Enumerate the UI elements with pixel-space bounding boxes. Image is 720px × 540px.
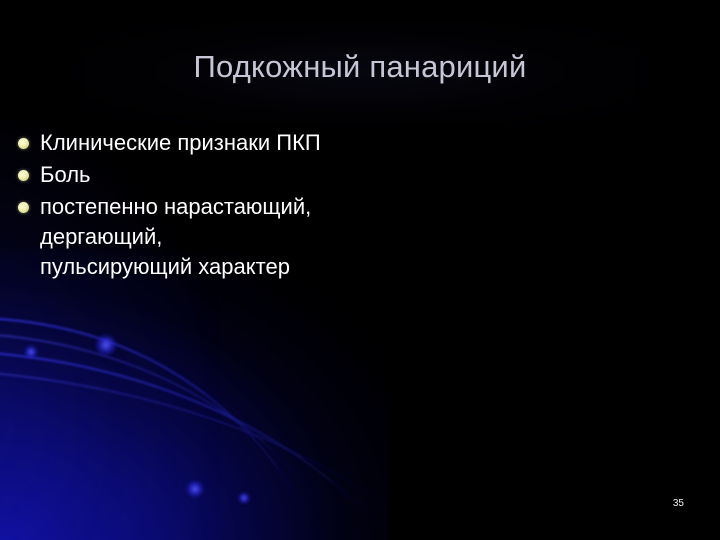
slide-canvas: Подкожный панариций Клинические признаки… (0, 0, 720, 540)
list-item-label: Боль (40, 160, 578, 190)
list-item: Клинические признаки ПКП (18, 128, 578, 158)
slide-content: Подкожный панариций Клинические признаки… (0, 0, 720, 540)
slide-title: Подкожный панариций (60, 48, 660, 86)
bullet-dot-icon (18, 138, 29, 149)
list-item-label: постепенно нарастающий, дергающий, пульс… (40, 192, 578, 282)
list-item-line: дергающий, (40, 222, 578, 252)
list-item-line: пульсирующий характер (40, 252, 578, 282)
bullet-list: Клинические признаки ПКП Боль постепенно… (18, 128, 578, 284)
list-item-label: Клинические признаки ПКП (40, 128, 578, 158)
bullet-dot-icon (18, 170, 29, 181)
list-item: Боль (18, 160, 578, 190)
list-item: постепенно нарастающий, дергающий, пульс… (18, 192, 578, 282)
bullet-dot-icon (18, 202, 29, 213)
page-number: 35 (673, 498, 684, 510)
list-item-line: постепенно нарастающий, (40, 192, 578, 222)
